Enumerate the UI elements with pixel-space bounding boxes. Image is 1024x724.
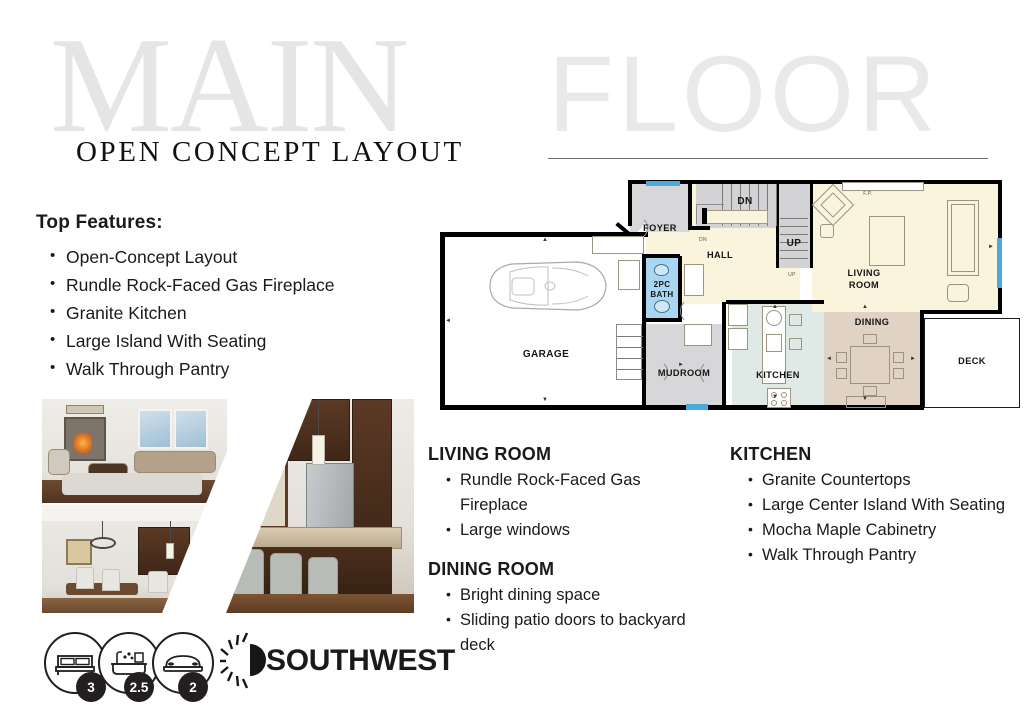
dimension-arrow: ◄	[826, 356, 832, 362]
up-small-label: UP	[782, 270, 802, 281]
wall-kitchen-left	[722, 302, 726, 408]
living-dining-descriptions: LIVING ROOM Rundle Rock-Faced Gas Firepl…	[428, 444, 708, 674]
living-label-line2: ROOM	[849, 280, 879, 290]
wall-bath-top	[646, 254, 680, 258]
wall-foyer-stub	[688, 226, 710, 230]
burner	[781, 400, 787, 406]
room-label-garage: GARAGE	[506, 349, 586, 360]
window-living	[997, 238, 1002, 288]
room-label-2pc-bath: 2PC BATH	[644, 280, 680, 299]
stair-label-dn: DN	[732, 196, 758, 207]
sofa-cushions	[951, 204, 975, 272]
garage-shelf	[618, 260, 640, 290]
room-label-deck: DECK	[934, 356, 1010, 367]
wall-garage-bottom	[440, 405, 648, 410]
top-features-section: Top Features: Open-Concept Layout Rundle…	[36, 212, 436, 383]
room-label-kitchen: KITCHEN	[742, 370, 814, 381]
dimension-arrow: ◄	[445, 318, 451, 324]
dn-stair-rail-v	[696, 204, 697, 224]
bath-label-line2: BATH	[650, 290, 673, 299]
list-item: Walk Through Pantry	[730, 543, 1015, 568]
stair-post	[702, 208, 707, 224]
room-label-dining: DINING	[832, 317, 912, 328]
room-label-mudroom: MUDROOM	[638, 368, 730, 379]
list-item: Granite Countertops	[730, 468, 1015, 493]
list-item: Large Center Island With Seating	[730, 493, 1015, 518]
floor-plan: GARAGE FOYER 2PC BATH HALL MUDROOM KITCH…	[432, 176, 1020, 426]
list-item: Walk Through Pantry	[36, 355, 436, 383]
dining-chair	[836, 352, 847, 363]
burner	[771, 400, 777, 406]
wall-bath-bottom	[646, 318, 680, 322]
island-cooktop-icon	[766, 334, 782, 352]
dining-chair	[863, 386, 877, 396]
dimension-arrow: ▼	[862, 396, 868, 402]
dimension-arrow: ►	[910, 356, 916, 362]
side-table	[820, 224, 834, 238]
list-item: Open-Concept Layout	[36, 243, 436, 271]
bathroom-count: 2.5	[124, 672, 154, 702]
mudroom-bench	[684, 324, 712, 346]
dining-chair	[893, 368, 904, 379]
living-room-heading: LIVING ROOM	[428, 444, 708, 465]
living-room-photo	[42, 399, 227, 503]
window-mudroom	[686, 404, 708, 410]
dimension-arrow: ►	[678, 362, 684, 368]
logo-text: SOUTHWEST	[266, 644, 455, 678]
kitchen-list: Granite Countertops Large Center Island …	[730, 468, 1015, 568]
sink-icon	[654, 300, 670, 313]
dimension-arrow: ▼	[772, 394, 778, 400]
wall-dining-right	[920, 310, 924, 408]
room-label-living: LIVING ROOM	[826, 268, 902, 291]
stair-label-up: UP	[780, 238, 808, 249]
list-item: Large Island With Seating	[36, 327, 436, 355]
room-label-foyer: FOYER	[630, 223, 690, 234]
coffee-table	[869, 216, 905, 266]
features-list: Open-Concept Layout Rundle Rock-Faced Ga…	[36, 243, 436, 383]
wall-mud-left	[642, 254, 646, 410]
page-title: OPEN CONCEPT LAYOUT	[76, 136, 464, 169]
fireplace-plan	[842, 182, 924, 191]
dining-table	[850, 346, 890, 384]
burner	[781, 392, 787, 398]
dimension-arrow: ▲	[862, 304, 868, 310]
dimension-arrow: ▲	[542, 237, 548, 243]
living-label-line1: LIVING	[847, 268, 880, 278]
list-item: Large windows	[428, 518, 708, 543]
stair-landing	[706, 210, 768, 224]
page-header: MAIN FLOOR OPEN CONCEPT LAYOUT	[0, 0, 1024, 180]
room-label-hall: HALL	[690, 250, 750, 261]
toilet-icon	[654, 264, 669, 276]
pantry-shelf	[684, 264, 704, 296]
kitchen-counter	[728, 304, 748, 326]
car-outline	[482, 254, 612, 318]
half-sun-icon	[220, 630, 272, 690]
watermark-floor: FLOOR	[548, 40, 940, 148]
photo-collage	[42, 399, 414, 613]
list-item: Rundle Rock-Faced Gas Fireplace	[428, 468, 708, 518]
dining-chair	[863, 334, 877, 344]
list-item: Granite Kitchen	[36, 299, 436, 327]
features-heading: Top Features:	[36, 212, 436, 234]
property-badges: 3 2.5 2	[44, 632, 214, 708]
dining-chair	[836, 368, 847, 379]
kitchen-counter	[728, 328, 748, 350]
dimension-arrow: ►	[988, 244, 994, 250]
list-item: Bright dining space	[428, 583, 708, 608]
wall-foyer-right	[688, 182, 692, 228]
dining-chair	[893, 352, 904, 363]
dimension-arrow: ▲	[772, 304, 778, 310]
living-room-list: Rundle Rock-Faced Gas Fireplace Large wi…	[428, 468, 708, 543]
list-item: Sliding patio doors to backyard deck	[428, 608, 708, 658]
dining-room-list: Bright dining space Sliding patio doors …	[428, 583, 708, 658]
island-stool	[789, 314, 802, 326]
title-divider	[548, 158, 988, 159]
bedroom-count: 3	[76, 672, 106, 702]
range-icon	[767, 388, 791, 408]
company-logo: SOUTHWEST	[220, 630, 430, 694]
island-stool	[789, 338, 802, 350]
dn-stair-rail	[696, 204, 724, 205]
garage-count: 2	[178, 672, 208, 702]
dining-room-heading: DINING ROOM	[428, 559, 708, 580]
wall-dining-top-right	[920, 310, 1002, 314]
island-sink-icon	[766, 310, 782, 326]
list-item: Rundle Rock-Faced Gas Fireplace	[36, 271, 436, 299]
dn-small-label: DN	[694, 235, 712, 246]
wall-living-right-upper	[998, 180, 1002, 238]
kitchen-descriptions: KITCHEN Granite Countertops Large Center…	[730, 444, 1015, 584]
fireplace-label: F.P.	[856, 189, 880, 200]
bath-label-line1: 2PC	[654, 280, 671, 289]
dimension-arrow: ▼	[542, 397, 548, 403]
watermark-main: MAIN	[50, 17, 407, 154]
window-foyer	[646, 181, 680, 186]
door-bath	[680, 298, 706, 324]
list-item: Mocha Maple Cabinetry	[730, 518, 1015, 543]
ottoman	[947, 284, 969, 302]
kitchen-heading: KITCHEN	[730, 444, 1015, 465]
wall-living-left	[810, 182, 813, 268]
